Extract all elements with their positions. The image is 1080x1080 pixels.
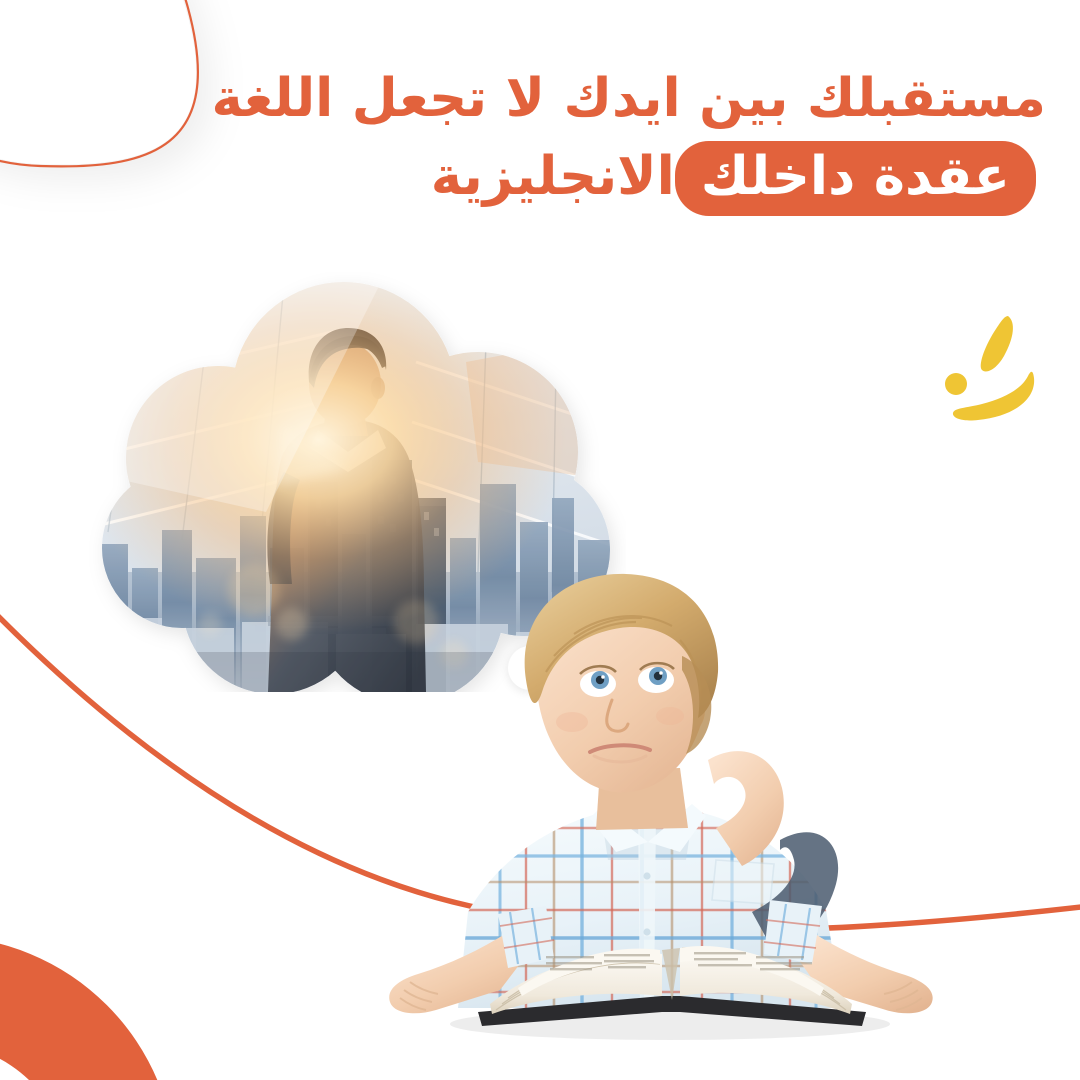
yellow-stroke xyxy=(981,316,1013,371)
poster-canvas: مستقبلك بين ايدك لا تجعل اللغة عقدة داخل… xyxy=(0,0,1080,1080)
yellow-dot xyxy=(945,373,967,395)
headline-line-2-plain: الانجليزية xyxy=(431,146,675,207)
bottom-left-ring-decoration xyxy=(0,910,176,1080)
yellow-exclamation-swoosh xyxy=(936,312,1066,432)
headline-line-1: مستقبلك بين ايدك لا تجعل اللغة xyxy=(240,72,1046,125)
headline-block: مستقبلك بين ايدك لا تجعل اللغة عقدة داخل… xyxy=(240,72,1046,214)
headline-badge: عقدة داخلك xyxy=(675,141,1036,216)
headline-line-2: عقدة داخلكالانجليزية xyxy=(240,139,1046,214)
boy-reading-photo xyxy=(350,560,990,1080)
boy-head xyxy=(525,574,718,830)
boy-graphic xyxy=(350,560,990,1080)
yellow-mark-graphic xyxy=(936,312,1066,432)
top-left-blob-decoration xyxy=(0,0,198,166)
